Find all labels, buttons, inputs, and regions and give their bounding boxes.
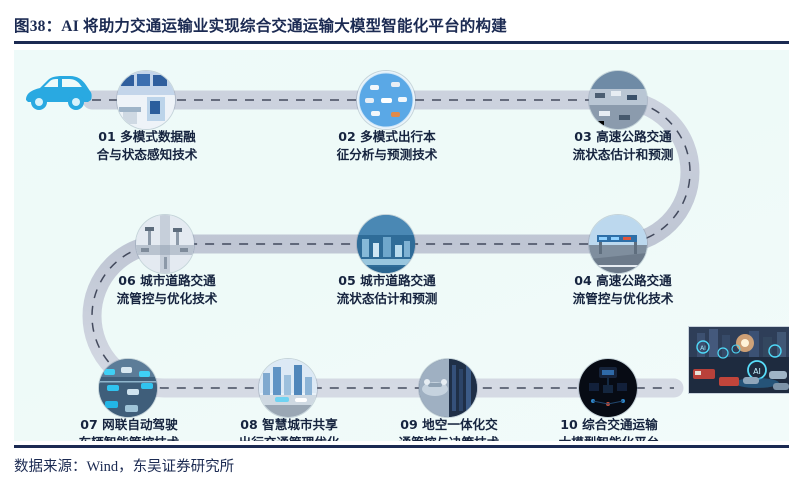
step-label-08: 08 智慧城市共享 出行交通管理优化 [198, 416, 380, 441]
step-node-03[interactable] [589, 71, 647, 129]
step-line2-07: 车辆智能管控技术 [38, 434, 220, 441]
figure-page: 图38：AI 将助力交通运输业实现综合交通运输大模型智能化平台的构建 [0, 0, 805, 488]
multimodal-sphere-thumb [357, 71, 415, 129]
step-node-09[interactable] [419, 359, 477, 417]
step-num-07: 07 [80, 417, 98, 432]
step-num-04: 04 [574, 273, 592, 288]
step-label-01-text: 01 多模式数据融 合与状态感知技术 [56, 128, 238, 164]
step-line1-05: 城市道路交通 [360, 273, 436, 288]
step-line1-06: 城市道路交通 [140, 273, 216, 288]
step-label-07: 07 网联自动驾驶 车辆智能管控技术 [38, 416, 220, 441]
step-line2-08: 出行交通管理优化 [198, 434, 380, 441]
step-line2-09: 通管控与决策技术 [358, 434, 540, 441]
step-node-04[interactable] [589, 215, 647, 273]
page-title: 图38：AI 将助力交通运输业实现综合交通运输大模型智能化平台的构建 [14, 14, 784, 40]
step-line2-01: 合与状态感知技术 [56, 146, 238, 164]
step-num-03: 03 [574, 129, 592, 144]
footer-divider [14, 445, 789, 448]
step-line2-04: 流管控与优化技术 [532, 290, 714, 308]
step-line2-06: 流管控与优化技术 [76, 290, 258, 308]
city-aerial-thumb [357, 215, 415, 273]
ai-platform-dark-thumb [579, 359, 637, 417]
step-num-02: 02 [338, 129, 356, 144]
step-label-05: 05 城市道路交通 流状态估计和预测 [296, 272, 478, 308]
title-divider [14, 41, 789, 44]
step-line2-05: 流状态估计和预测 [296, 290, 478, 308]
step-num-10: 10 [560, 417, 578, 432]
smart-city-thumb [259, 359, 317, 417]
step-line2-10: 大模型智能化平台 [518, 434, 700, 441]
car-icon [20, 72, 94, 116]
step-line1-08: 智慧城市共享 [262, 417, 338, 432]
step-node-01[interactable] [117, 71, 175, 129]
step-line1-03: 高速公路交通 [596, 129, 672, 144]
highway-traffic-thumb [589, 71, 647, 129]
step-line2-02: 征分析与预测技术 [296, 146, 478, 164]
step-num-08: 08 [240, 417, 258, 432]
source-note: 数据来源：Wind，东吴证券研究所 [14, 455, 234, 476]
step-num-05: 05 [338, 273, 356, 288]
ai-smart-city-image: AI AI [688, 326, 789, 394]
step-node-06[interactable] [136, 215, 194, 273]
step-node-10[interactable] [579, 359, 637, 417]
control-room-thumb [117, 71, 175, 129]
step-node-02[interactable] [357, 71, 415, 129]
step-label-09: 09 地空一体化交 通管控与决策技术 [358, 416, 540, 441]
intersection-3d-thumb [136, 215, 194, 273]
step-node-07[interactable] [99, 359, 157, 417]
step-node-08[interactable] [259, 359, 317, 417]
step-line1-10: 综合交通运输 [582, 417, 658, 432]
step-label-10: 10 综合交通运输 大模型智能化平台 [518, 416, 700, 441]
step-line1-01: 多模式数据融 [120, 129, 196, 144]
step-line1-04: 高速公路交通 [596, 273, 672, 288]
svg-text:AI: AI [753, 367, 761, 376]
step-node-05[interactable] [357, 215, 415, 273]
step-label-03: 03 高速公路交通 流状态估计和预测 [532, 128, 714, 164]
step-num-06: 06 [118, 273, 136, 288]
svg-text:AI: AI [700, 345, 706, 352]
step-line1-02: 多模式出行本 [360, 129, 436, 144]
step-label-06: 06 城市道路交通 流管控与优化技术 [76, 272, 258, 308]
step-label-04: 04 高速公路交通 流管控与优化技术 [532, 272, 714, 308]
step-line2-03: 流状态估计和预测 [532, 146, 714, 164]
step-num-01: 01 [98, 129, 116, 144]
step-line1-07: 网联自动驾驶 [102, 417, 178, 432]
drone-city-thumb [419, 359, 477, 417]
infographic-panel: 01 多模式数据融 合与状态感知技术 02 多模式出行本 征分析与预测技术 [14, 50, 789, 441]
step-num-09: 09 [400, 417, 418, 432]
step-label-02: 02 多模式出行本 征分析与预测技术 [296, 128, 478, 164]
step-line1-09: 地空一体化交 [422, 417, 498, 432]
connected-vehicles-thumb [99, 359, 157, 417]
gantry-sign-thumb [589, 215, 647, 273]
